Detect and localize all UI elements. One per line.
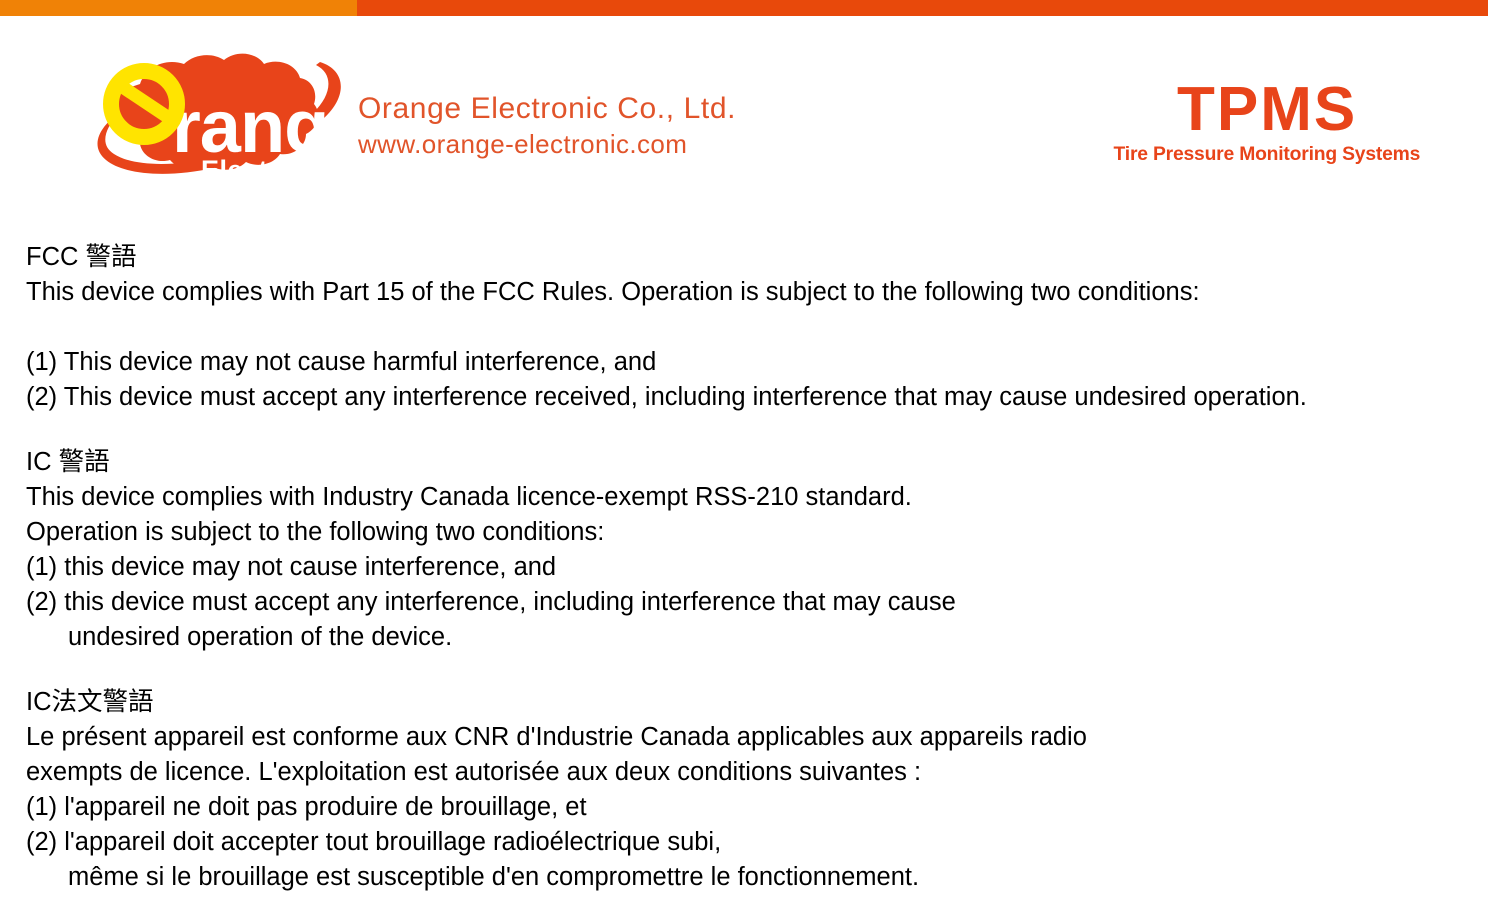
tpms-title: TPMS <box>1112 78 1422 141</box>
stripe-segment-left <box>0 0 357 16</box>
ic-line-2: Operation is subject to the following tw… <box>26 515 1496 550</box>
section-fcc: FCC 警語 This device complies with Part 15… <box>26 240 1496 415</box>
orange-electronic-logo-icon: range Electronic <box>88 44 350 190</box>
ic-condition-2: (2) this device must accept any interfer… <box>26 585 1496 620</box>
regulatory-notice-body: FCC 警語 This device complies with Part 15… <box>26 240 1496 895</box>
ic-fr-line-1: Le présent appareil est conforme aux CNR… <box>26 720 1496 755</box>
ic-line-1: This device complies with Industry Canad… <box>26 480 1496 515</box>
fcc-condition-1: (1) This device may not cause harmful in… <box>26 345 1496 380</box>
ic-condition-2-continued: undesired operation of the device. <box>26 620 1496 655</box>
ic-fr-line-2: exempts de licence. L'exploitation est a… <box>26 755 1496 790</box>
fcc-line-blank <box>26 310 1496 345</box>
ic-fr-condition-2-continued: même si le brouillage est susceptible d'… <box>26 860 1496 895</box>
section-ic-french: IC法文警語 Le présent appareil est conforme … <box>26 685 1496 895</box>
section-ic: IC 警語 This device complies with Industry… <box>26 445 1496 655</box>
ic-fr-condition-2: (2) l'appareil doit accepter tout brouil… <box>26 825 1496 860</box>
fcc-line-1: This device complies with Part 15 of the… <box>26 275 1496 310</box>
company-identity: Orange Electronic Co., Ltd. www.orange-e… <box>358 90 736 161</box>
section-heading-fcc: FCC 警語 <box>26 240 1496 275</box>
section-heading-ic: IC 警語 <box>26 445 1496 480</box>
stripe-segment-right <box>357 0 1488 16</box>
company-name: Orange Electronic Co., Ltd. <box>358 90 736 128</box>
svg-text:Electronic: Electronic <box>201 155 337 185</box>
tpms-logo: TPMS Tire Pressure Monitoring Systems <box>1112 78 1422 166</box>
ic-fr-condition-1: (1) l'appareil ne doit pas produire de b… <box>26 790 1496 825</box>
company-website-url: www.orange-electronic.com <box>358 128 736 161</box>
tpms-subtitle: Tire Pressure Monitoring Systems <box>1114 143 1421 166</box>
document-header: range Electronic Orange Electronic Co., … <box>0 16 1500 201</box>
fcc-condition-2: (2) This device must accept any interfer… <box>26 380 1496 415</box>
section-heading-ic-french: IC法文警語 <box>26 685 1496 720</box>
ic-condition-1: (1) this device may not cause interferen… <box>26 550 1496 585</box>
top-decorative-stripe <box>0 0 1500 16</box>
